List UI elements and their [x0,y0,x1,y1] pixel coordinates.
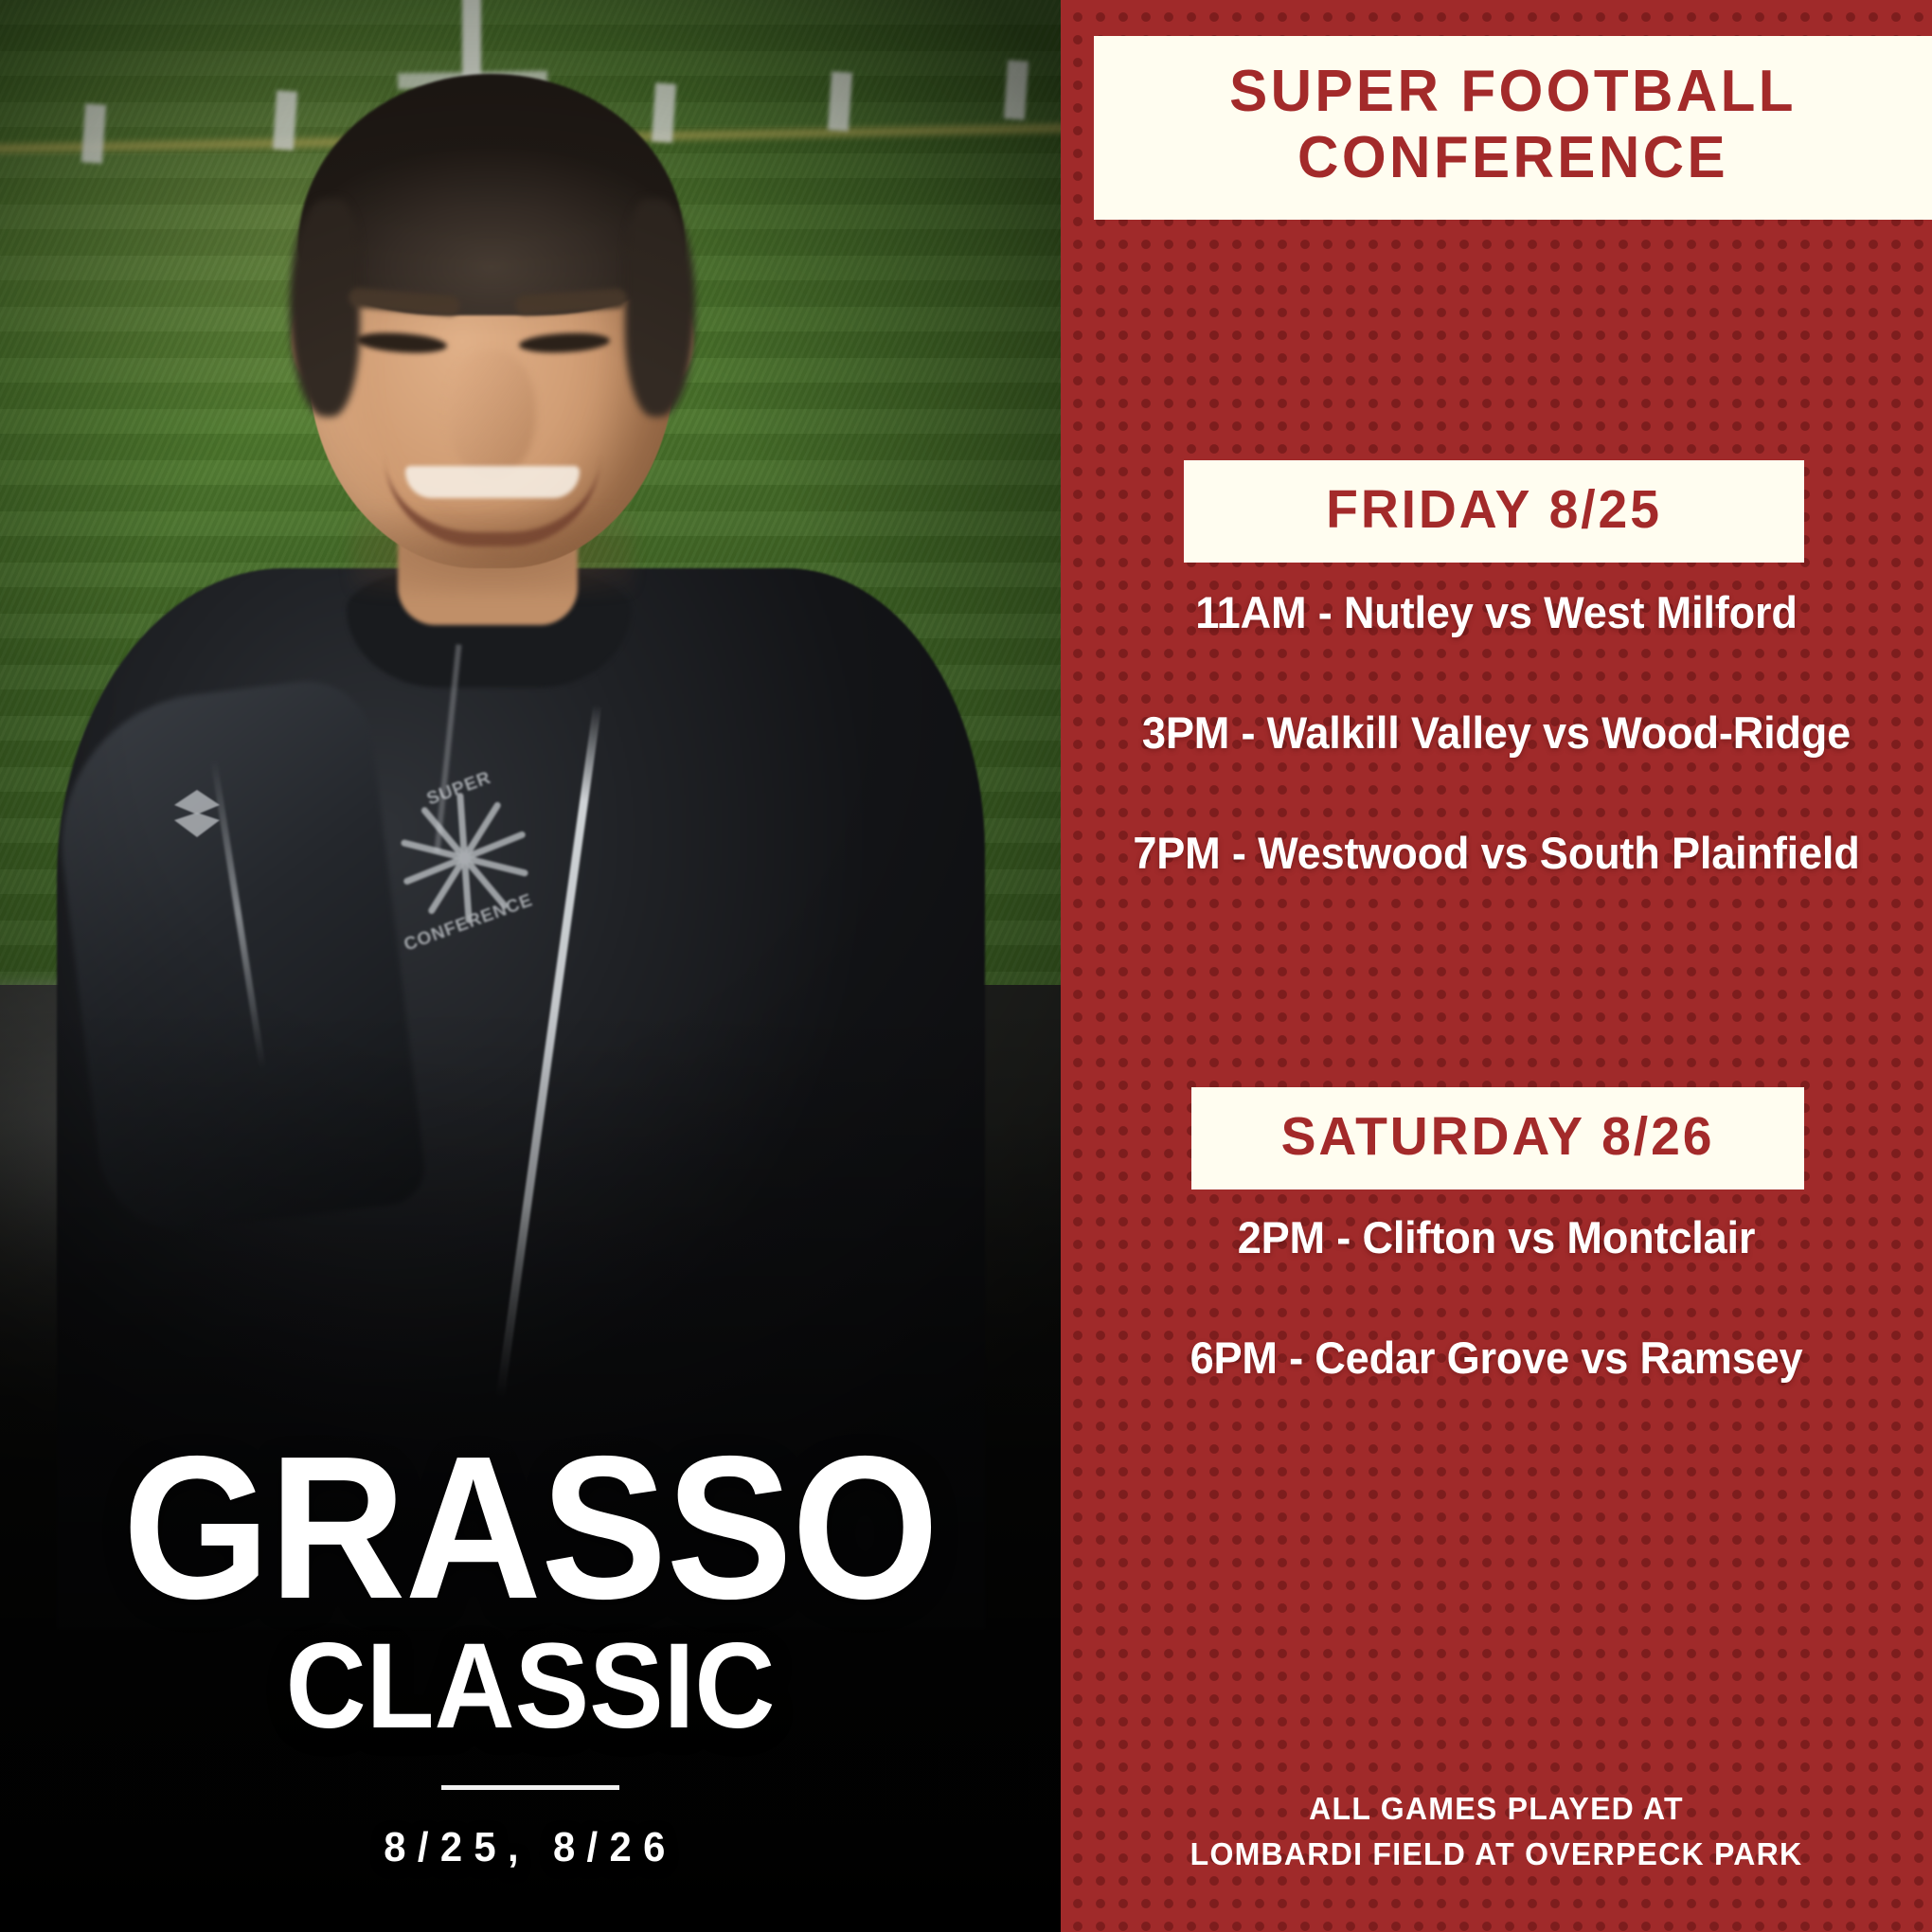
game-list-friday: 11AM - Nutley vs West Milford 3PM - Walk… [1061,585,1932,945]
hash-mark [1004,60,1029,119]
page-subtitle: CLASSIC [43,1626,1018,1747]
conference-title-line-2: CONFERENCE [1116,125,1910,191]
conference-starburst-logo-icon: SUPER CONFERENCE [369,763,560,954]
title-divider [441,1785,619,1790]
schedule-panel: SUPER FOOTBALL CONFERENCE FRIDAY 8/25 11… [1061,0,1932,1932]
coach-hair-right [625,199,695,417]
day-header-saturday-label: SATURDAY 8/26 [1209,1105,1785,1168]
coach-photo-panel: SUPER CONFERENCE GRASSO CLASSIC 8/25, [0,0,1061,1932]
event-dates: 8/25, 8/26 [27,1824,1034,1871]
conference-title-line-1: SUPER FOOTBALL [1116,59,1910,125]
game-row: 6PM - Cedar Grove vs Ramsey [1078,1331,1914,1386]
game-row: 3PM - Walkill Valley vs Wood-Ridge [1078,706,1914,761]
day-header-friday: FRIDAY 8/25 [1184,460,1804,563]
venue-note: ALL GAMES PLAYED AT LOMBARDI FIELD AT OV… [1074,1786,1919,1877]
event-poster: SUPER CONFERENCE GRASSO CLASSIC 8/25, [0,0,1932,1932]
coach-left-shoulder [45,673,429,1239]
venue-note-line-2: LOMBARDI FIELD AT OVERPECK PARK [1074,1832,1919,1877]
coach-hair-left [290,199,360,417]
page-title: GRASSO [37,1438,1024,1617]
coach-chin-shadow [350,510,635,595]
venue-note-line-1: ALL GAMES PLAYED AT [1074,1786,1919,1832]
game-row: 7PM - Westwood vs South Plainfield [1078,826,1914,882]
day-header-friday-label: FRIDAY 8/25 [1203,478,1786,541]
day-header-saturday: SATURDAY 8/26 [1191,1087,1804,1190]
hash-mark [81,103,106,163]
under-armour-logo-icon [163,786,231,841]
coach-figure: SUPER CONFERENCE [114,38,852,1572]
game-list-saturday: 2PM - Clifton vs Montclair 6PM - Cedar G… [1061,1210,1932,1451]
game-row: 2PM - Clifton vs Montclair [1078,1210,1914,1266]
conference-title-banner: SUPER FOOTBALL CONFERENCE [1094,36,1932,220]
event-title-block: GRASSO CLASSIC 8/25, 8/26 [0,1438,1061,1871]
game-row: 11AM - Nutley vs West Milford [1078,585,1914,641]
